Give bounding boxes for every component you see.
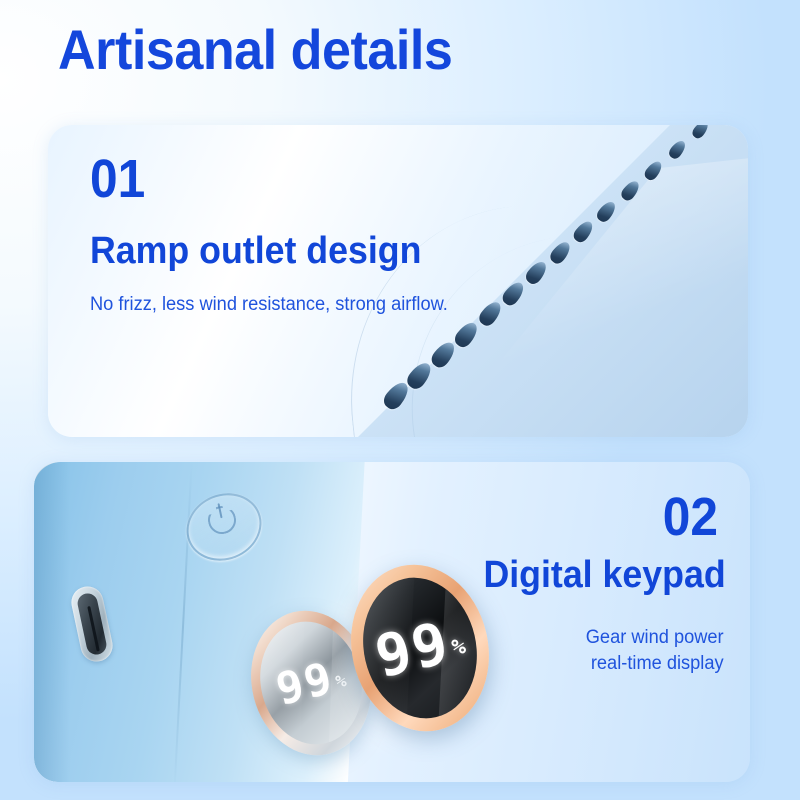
air-vent xyxy=(571,218,596,245)
led-unit-silver: % xyxy=(334,672,349,696)
card-01-number: 01 xyxy=(90,152,145,206)
ramp-outlet-illustration xyxy=(48,125,748,437)
product-feature-page: Artisanal details 01 Ramp outlet design … xyxy=(0,0,800,800)
dryer-handle-edge xyxy=(173,462,192,782)
display-sheen-secondary xyxy=(328,611,374,756)
air-vent xyxy=(476,298,505,328)
air-vent xyxy=(619,178,642,203)
card-01-heading: Ramp outlet design xyxy=(90,232,421,270)
air-vent xyxy=(642,158,664,182)
led-display-silver: 99 % xyxy=(236,598,386,768)
dryer-handle-shadow xyxy=(34,462,70,782)
card-01-subtitle: No frizz, less wind resistance, strong a… xyxy=(90,292,448,318)
digital-keypad-illustration: 99 % 99 % xyxy=(34,462,750,782)
led-value-gold: 99 xyxy=(371,616,455,683)
card-02-subtitle: Gear wind power real-time display xyxy=(586,625,724,676)
led-readout-silver: 99 % xyxy=(258,652,365,715)
power-button[interactable] xyxy=(182,486,266,567)
usb-c-port-tongue xyxy=(87,606,99,652)
air-vent xyxy=(452,318,481,349)
air-vent xyxy=(404,358,435,391)
feature-card-01: 01 Ramp outlet design No frizz, less win… xyxy=(48,125,748,437)
card-02-number: 02 xyxy=(663,490,718,544)
card-02-heading: Digital keypad xyxy=(484,556,726,594)
air-vent xyxy=(547,238,573,266)
led-display-silver-face: 99 % xyxy=(247,611,374,756)
led-value-silver: 99 xyxy=(273,658,338,710)
air-vent xyxy=(380,378,412,412)
air-vent xyxy=(666,138,688,161)
power-icon-ring xyxy=(205,503,238,536)
power-icon xyxy=(205,503,238,536)
power-icon-bar xyxy=(217,503,222,518)
led-display-gold-face: 99 % xyxy=(349,566,490,730)
dryer-seam-line-secondary xyxy=(384,226,665,437)
air-vent xyxy=(500,278,528,307)
card-02-subtitle-line1: Gear wind power xyxy=(586,625,724,651)
dryer-body-shape xyxy=(310,125,748,437)
usb-c-port-inner xyxy=(76,592,108,657)
air-vent xyxy=(595,198,619,224)
usb-c-port xyxy=(68,584,115,665)
card-02-subtitle-line2: real-time display xyxy=(586,651,724,677)
led-readout-gold: 99 % xyxy=(360,610,481,686)
air-vent xyxy=(428,338,458,370)
air-vent xyxy=(523,258,550,287)
dryer-handle-body xyxy=(34,462,365,782)
feature-card-02: 99 % 99 % 02 Digital keypad xyxy=(34,462,750,782)
display-sheen xyxy=(349,566,415,730)
air-vent xyxy=(690,125,711,140)
display-sheen xyxy=(247,611,305,756)
led-unit-gold: % xyxy=(450,636,469,666)
page-title: Artisanal details xyxy=(58,22,452,78)
led-display-gold: 99 % xyxy=(335,551,505,745)
